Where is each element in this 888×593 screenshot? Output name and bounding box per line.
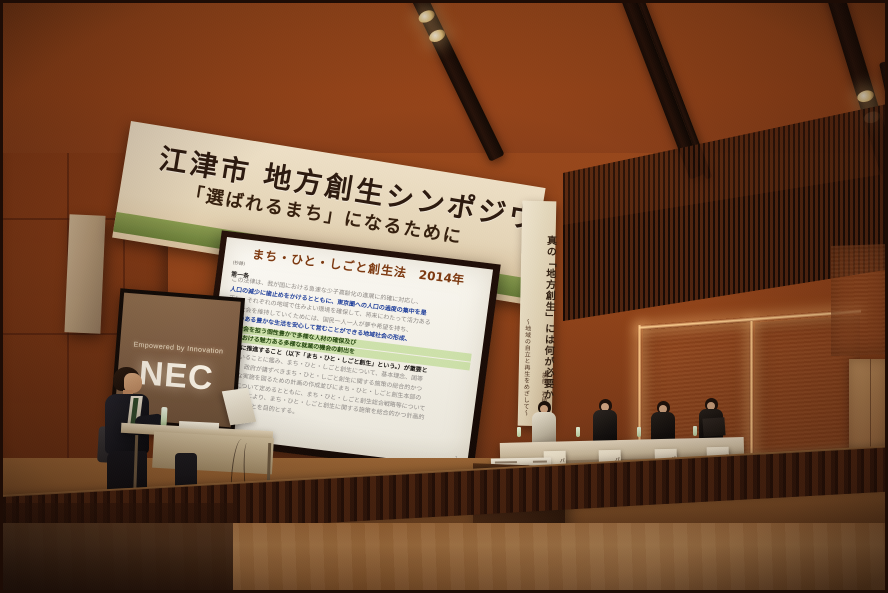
ceiling-spotlight-3 <box>856 89 875 104</box>
water-bottle-2 <box>576 427 580 437</box>
floor-shadow-left <box>3 503 233 593</box>
wall-panel-upper-right <box>831 244 888 356</box>
podium-doc-line-1 <box>495 461 517 463</box>
water-bottle-3 <box>637 427 641 437</box>
wall-seam-horizontal-2 <box>3 333 123 335</box>
water-bottle-1 <box>517 427 521 437</box>
vertical-banner: 真の「地方創生」には何が必要か ～地域の自立と再生をめざして～ 講師 石破 茂 <box>518 201 557 427</box>
wall-light-strip-2 <box>749 321 754 467</box>
panelist-2 <box>593 399 617 445</box>
symposium-photo: 江津市 地方創生シンポジウム 「選ばれるまち」になるために 主催:江津市商工会 … <box>0 0 888 593</box>
panelist-2-body <box>593 410 617 444</box>
wall-speaker-box <box>64 214 105 333</box>
slide-year: 2014年 <box>418 266 465 288</box>
speaker-desk-front <box>152 432 274 475</box>
slide-kicker: (抄録) <box>232 260 245 267</box>
podium-doc-line-3 <box>533 461 547 463</box>
panel-laptop <box>702 417 725 436</box>
panelist-1 <box>532 401 556 447</box>
water-bottle-4 <box>693 426 697 436</box>
